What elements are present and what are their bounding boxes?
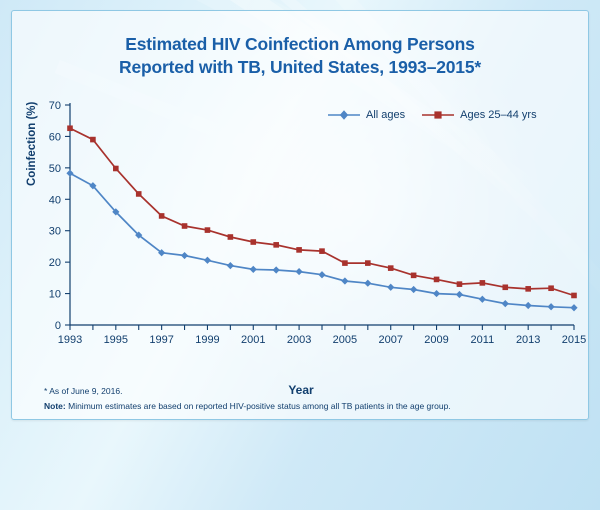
data-point-marker <box>318 271 325 278</box>
title-line-1: Estimated HIV Coinfection Among Persons <box>125 34 474 54</box>
data-point-marker <box>205 227 211 233</box>
data-point-marker <box>570 304 577 311</box>
x-tick-label: 2001 <box>241 334 265 346</box>
x-tick-label: 2011 <box>471 334 495 346</box>
data-point-marker <box>480 280 486 286</box>
title-line-2: Reported with TB, United States, 1993–20… <box>12 56 588 79</box>
data-point-marker <box>434 277 440 283</box>
data-point-marker <box>547 303 554 310</box>
data-point-marker <box>410 286 417 293</box>
y-tick-label: 60 <box>49 131 61 143</box>
data-point-marker <box>571 293 577 299</box>
data-point-marker <box>182 223 188 229</box>
footnote-note-label: Note: <box>44 401 66 411</box>
data-point-marker <box>159 213 165 219</box>
y-tick-label: 0 <box>55 320 61 332</box>
series-line-2 <box>70 128 574 295</box>
data-point-marker <box>67 125 73 131</box>
data-point-marker <box>204 257 211 264</box>
y-tick-label: 70 <box>49 100 61 112</box>
footnote-note: Note: Minimum estimates are based on rep… <box>44 400 584 413</box>
data-point-marker <box>273 242 279 248</box>
data-point-marker <box>456 291 463 298</box>
x-tick-label: 1999 <box>195 334 219 346</box>
data-point-marker <box>502 300 509 307</box>
data-point-marker <box>548 285 554 291</box>
x-tick-label: 1995 <box>104 334 128 346</box>
footnote-asterisk: * As of June 9, 2016. <box>44 385 584 398</box>
data-point-marker <box>227 262 234 269</box>
chart-panel: Estimated HIV Coinfection Among Persons … <box>11 10 589 420</box>
y-tick-label: 10 <box>49 289 61 301</box>
data-point-marker <box>365 260 371 266</box>
footnotes: * As of June 9, 2016. Note: Minimum esti… <box>44 385 584 413</box>
data-point-marker <box>319 248 325 254</box>
data-point-marker <box>364 280 371 287</box>
data-point-marker <box>525 286 531 292</box>
x-tick-label: 1997 <box>149 334 173 346</box>
x-tick-label: 1993 <box>58 334 82 346</box>
slide-background: Estimated HIV Coinfection Among Persons … <box>0 0 600 510</box>
x-tick-label: 2013 <box>516 334 540 346</box>
data-point-marker <box>228 234 234 240</box>
data-point-marker <box>90 137 96 143</box>
data-point-marker <box>502 284 508 290</box>
data-point-marker <box>411 273 417 279</box>
y-tick-label: 30 <box>49 226 61 238</box>
x-tick-label: 2003 <box>287 334 311 346</box>
data-point-marker <box>250 266 257 273</box>
data-point-marker <box>273 266 280 273</box>
y-tick-label: 20 <box>49 257 61 269</box>
x-tick-label: 2015 <box>562 334 586 346</box>
data-point-marker <box>479 296 486 303</box>
data-point-marker <box>250 239 256 245</box>
data-point-marker <box>388 265 394 271</box>
y-tick-label: 40 <box>49 194 61 206</box>
x-tick-label: 2009 <box>424 334 448 346</box>
data-point-marker <box>296 247 302 253</box>
data-point-marker <box>341 277 348 284</box>
data-point-marker <box>66 170 73 177</box>
plot-area: 0102030405060701993199519971999200120032… <box>12 95 590 365</box>
data-point-marker <box>457 281 463 287</box>
data-point-marker <box>525 302 532 309</box>
series-line-1 <box>70 173 574 308</box>
data-point-marker <box>136 191 142 197</box>
footnote-note-text: Minimum estimates are based on reported … <box>68 401 451 411</box>
y-tick-label: 50 <box>49 163 61 175</box>
x-tick-label: 2005 <box>333 334 357 346</box>
data-point-marker <box>181 252 188 259</box>
data-point-marker <box>295 268 302 275</box>
data-point-marker <box>113 166 119 172</box>
line-chart: 0102030405060701993199519971999200120032… <box>12 95 590 375</box>
x-tick-label: 2007 <box>378 334 402 346</box>
data-point-marker <box>342 260 348 266</box>
page-title: Estimated HIV Coinfection Among Persons … <box>12 33 588 79</box>
data-point-marker <box>433 290 440 297</box>
data-point-marker <box>387 284 394 291</box>
